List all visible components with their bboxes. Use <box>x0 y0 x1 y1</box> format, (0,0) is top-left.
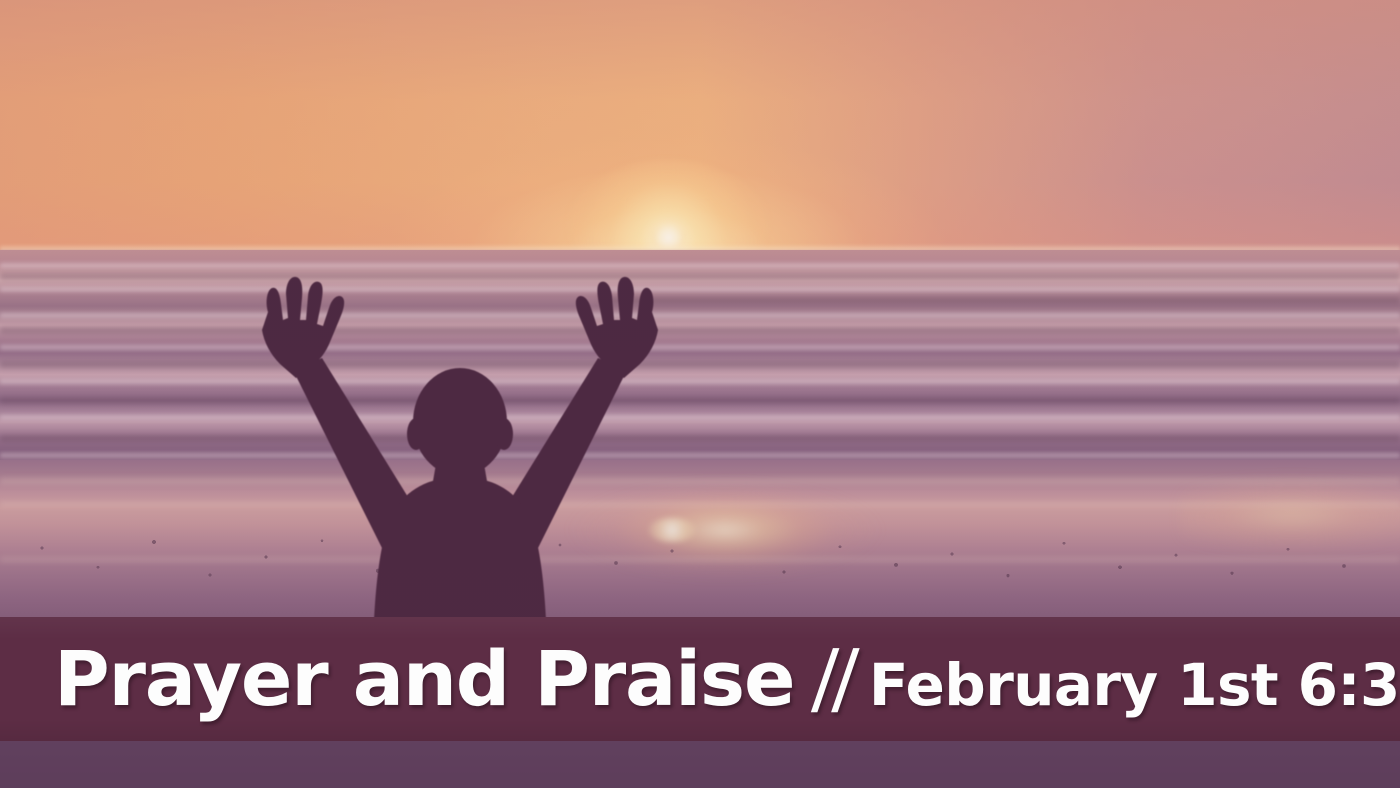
wave-shadow <box>600 296 1400 305</box>
wave-shadow <box>0 326 1400 335</box>
wave-foam <box>0 262 1400 269</box>
wave-foam <box>0 452 1400 459</box>
sand-sheen <box>0 500 1400 508</box>
left-hand <box>262 277 344 378</box>
wave-shadow <box>0 360 1400 369</box>
wave-foam <box>0 414 1400 421</box>
event-title: Prayer and Praise <box>54 641 794 717</box>
title-separator: // <box>811 640 854 718</box>
banner-text: Prayer and Praise // February 1st 6:30 p… <box>54 640 1400 718</box>
sand-sheen <box>0 476 1400 486</box>
wave-shadow <box>0 396 1400 405</box>
event-date-time: February 1st 6:30 pm <box>869 656 1400 714</box>
right-ear <box>495 418 513 450</box>
sand-pebbles <box>0 530 1400 590</box>
title-banner: Prayer and Praise // February 1st 6:30 p… <box>0 617 1400 741</box>
wave-foam <box>0 378 1400 385</box>
person-silhouette <box>250 272 670 672</box>
wave-foam <box>0 286 1400 293</box>
ocean <box>0 250 1400 465</box>
head <box>413 368 507 476</box>
wave-foam <box>0 312 1400 319</box>
wave-foam <box>0 344 1400 351</box>
left-ear <box>407 418 425 450</box>
wave-shadow <box>0 272 1400 281</box>
announcement-slide: Prayer and Praise // February 1st 6:30 p… <box>0 0 1400 788</box>
wave-shadow <box>0 434 1400 443</box>
right-hand <box>576 277 658 378</box>
